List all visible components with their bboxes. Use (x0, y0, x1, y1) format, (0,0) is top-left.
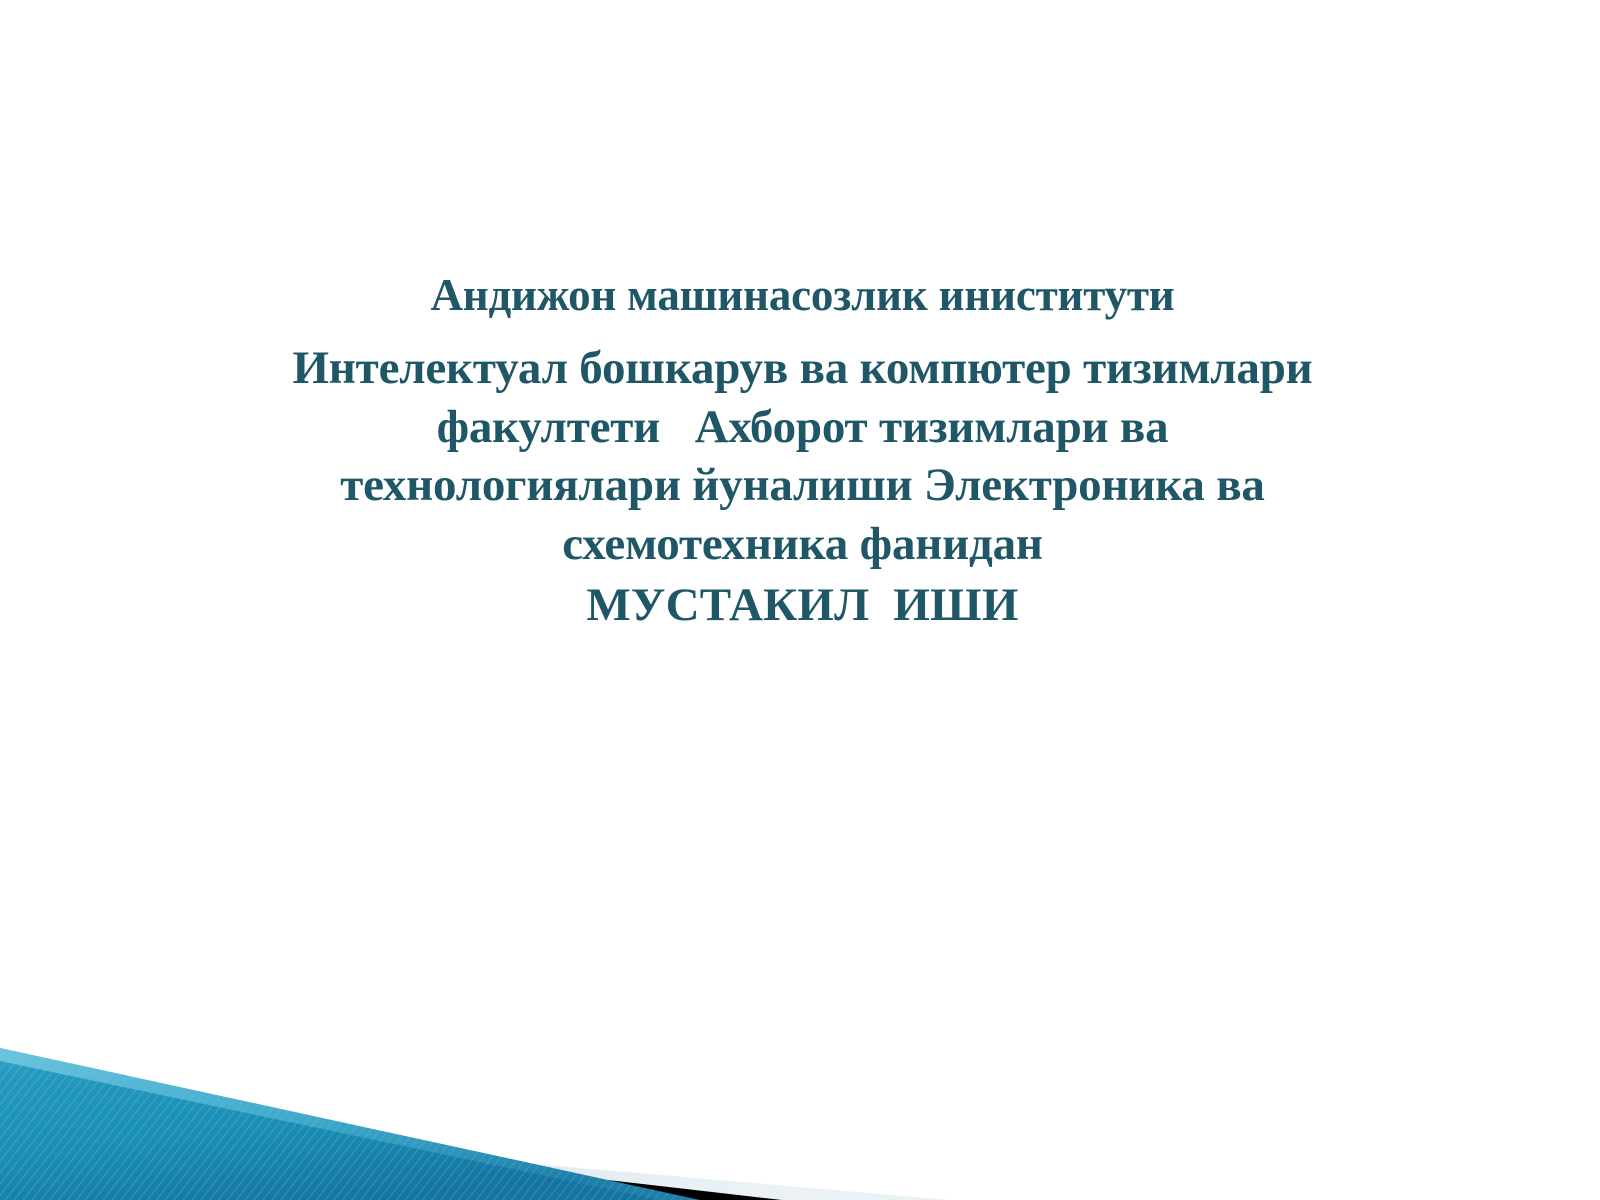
pale-blue-wedge (0, 1118, 950, 1200)
presentation-slide: Андижон машинасозлик иниститути Интелект… (0, 0, 1600, 1200)
title-text-block: Андижон машинасозлик иниститути Интелект… (180, 268, 1425, 633)
blue-wedge (0, 1048, 700, 1200)
black-stripe-wedge (0, 1110, 782, 1200)
work-type-line: МУСТАКИЛ ИШИ (180, 577, 1425, 633)
corner-decoration-graphic (0, 990, 1020, 1200)
department-line-3: технологиялари йуналиши Электроника ва (180, 456, 1425, 515)
work-type-paragraph: МУСТАКИЛ ИШИ (180, 577, 1425, 633)
department-line-4: схемотехника фанидан (180, 515, 1425, 574)
department-paragraph: Интелектуал бошкарув ва компютер тизимла… (180, 339, 1425, 573)
department-line-1: Интелектуал бошкарув ва компютер тизимла… (180, 339, 1425, 398)
institution-paragraph: Андижон машинасозлик иниститути (180, 268, 1425, 322)
department-line-2: факултети Ахборот тизимлари ва (180, 398, 1425, 457)
institution-line: Андижон машинасозлик иниститути (180, 268, 1425, 322)
